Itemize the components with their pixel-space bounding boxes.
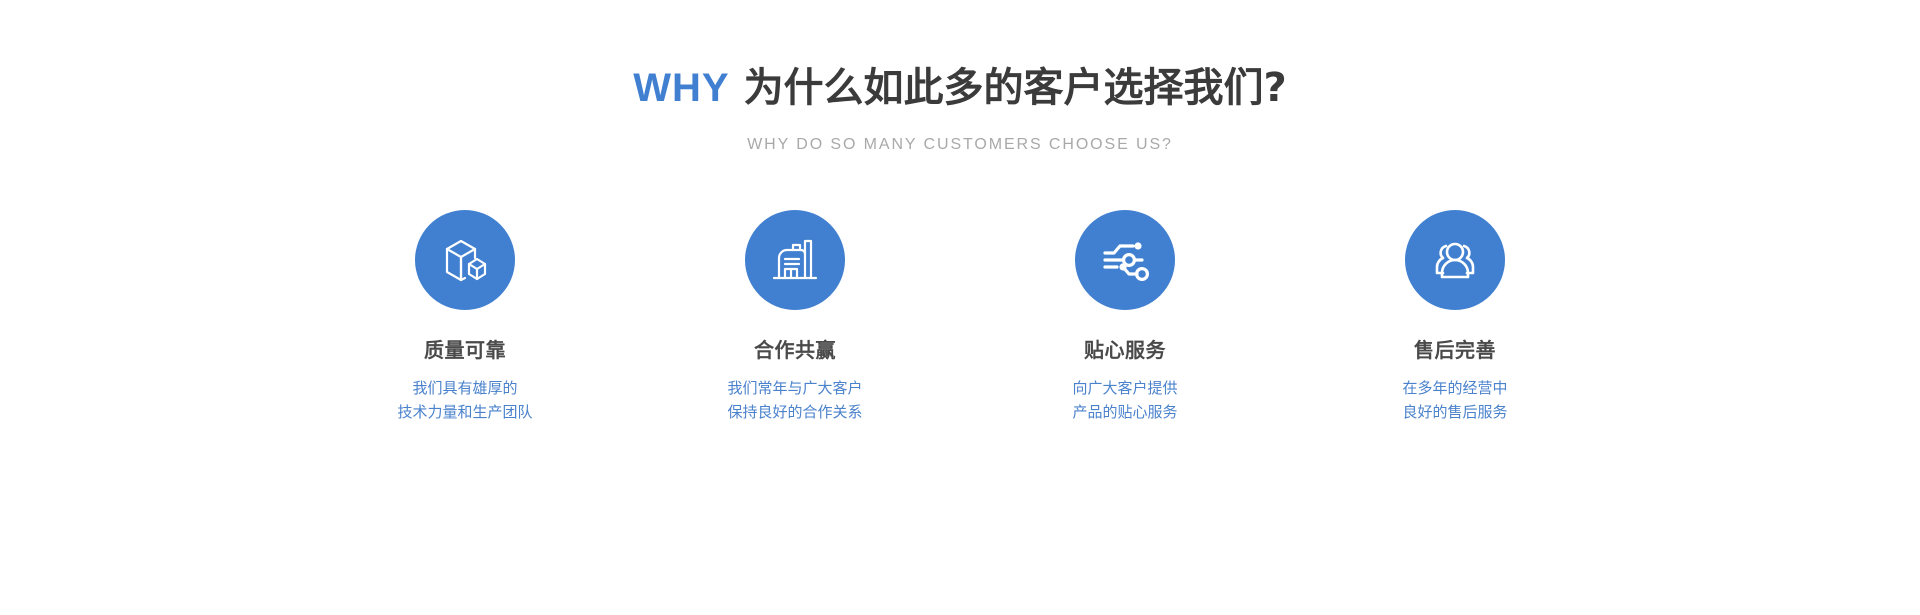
people-group-icon (1426, 231, 1484, 289)
feature-item-cooperation: 合作共赢 我们常年与广大客户 保持良好的合作关系 (695, 210, 895, 425)
feature-icon-circle (415, 210, 515, 310)
feature-icon-circle (1075, 210, 1175, 310)
feature-title: 售后完善 (1414, 338, 1496, 362)
feature-item-quality: 质量可靠 我们具有雄厚的 技术力量和生产团队 (365, 210, 565, 425)
page-title: WHY为什么如此多的客户选择我们? (0, 66, 1920, 110)
feature-desc-line: 在多年的经营中 (1402, 376, 1507, 400)
feature-desc-line: 产品的贴心服务 (1072, 400, 1177, 424)
feature-desc-line: 我们常年与广大客户 (727, 376, 862, 400)
page-subtitle: WHY DO SO MANY CUSTOMERS CHOOSE US? (0, 136, 1920, 154)
factory-icon (766, 231, 824, 289)
feature-desc-line: 向广大客户提供 (1072, 376, 1177, 400)
title-main-text: 为什么如此多的客户选择我们? (744, 65, 1287, 111)
section-heading: WHY为什么如此多的客户选择我们? WHY DO SO MANY CUSTOME… (0, 66, 1920, 154)
feature-item-service: 贴心服务 向广大客户提供 产品的贴心服务 (1025, 210, 1225, 425)
feature-description: 在多年的经营中 良好的售后服务 (1402, 376, 1507, 425)
box-cube-icon (436, 231, 494, 289)
circuit-network-icon (1096, 231, 1154, 289)
feature-desc-line: 我们具有雄厚的 (397, 376, 532, 400)
feature-list: 质量可靠 我们具有雄厚的 技术力量和生产团队 (365, 210, 1555, 425)
feature-desc-line: 保持良好的合作关系 (727, 400, 862, 424)
feature-description: 我们具有雄厚的 技术力量和生产团队 (397, 376, 532, 425)
feature-icon-circle (745, 210, 845, 310)
feature-desc-line: 技术力量和生产团队 (397, 400, 532, 424)
feature-title: 合作共赢 (754, 338, 836, 362)
feature-desc-line: 良好的售后服务 (1402, 400, 1507, 424)
title-prefix-why: WHY (633, 66, 729, 110)
feature-item-after-sales: 售后完善 在多年的经营中 良好的售后服务 (1355, 210, 1555, 425)
feature-title: 贴心服务 (1084, 338, 1166, 362)
feature-title: 质量可靠 (424, 338, 506, 362)
feature-description: 我们常年与广大客户 保持良好的合作关系 (727, 376, 862, 425)
feature-description: 向广大客户提供 产品的贴心服务 (1072, 376, 1177, 425)
why-choose-us-section: WHY为什么如此多的客户选择我们? WHY DO SO MANY CUSTOME… (0, 0, 1920, 615)
feature-icon-circle (1405, 210, 1505, 310)
